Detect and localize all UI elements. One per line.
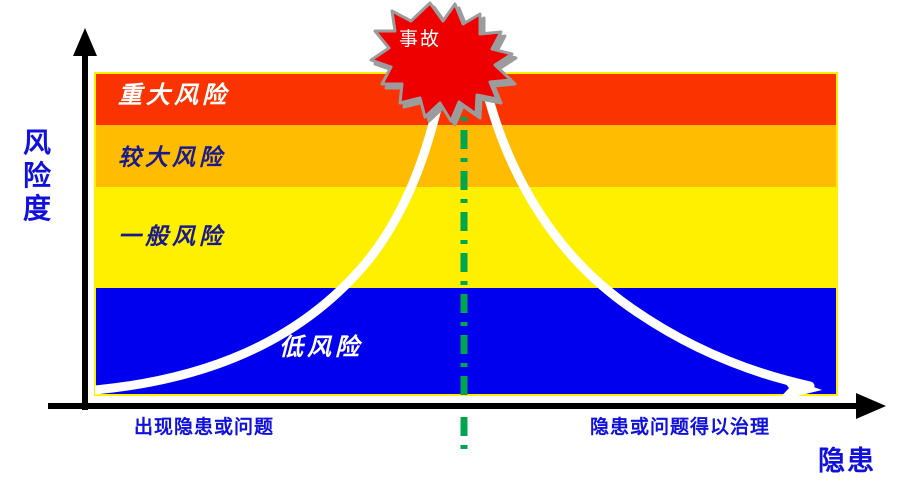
y-axis-arrowhead — [73, 28, 97, 56]
accident-label: 事故 — [399, 30, 441, 49]
risk-band-label-major: 重大风险 — [118, 83, 230, 107]
risk-band-label-large: 较大风险 — [118, 147, 226, 170]
x-axis-title: 隐患 — [818, 448, 876, 475]
risk-hazard-diagram: 重大风险 较大风险 一般风险 低风险 风险度 隐患 出现隐患或问题 隐患或问题得… — [0, 0, 912, 488]
caption-hazard-resolved: 隐患或问题得以治理 — [590, 418, 770, 437]
y-axis-title: 风险度 — [20, 126, 54, 225]
risk-band-label-low: 低风险 — [279, 335, 363, 359]
risk-band-label-general: 一般风险 — [118, 226, 226, 249]
x-axis-arrowhead — [856, 393, 886, 419]
caption-hazard-appears: 出现隐患或问题 — [134, 418, 274, 437]
